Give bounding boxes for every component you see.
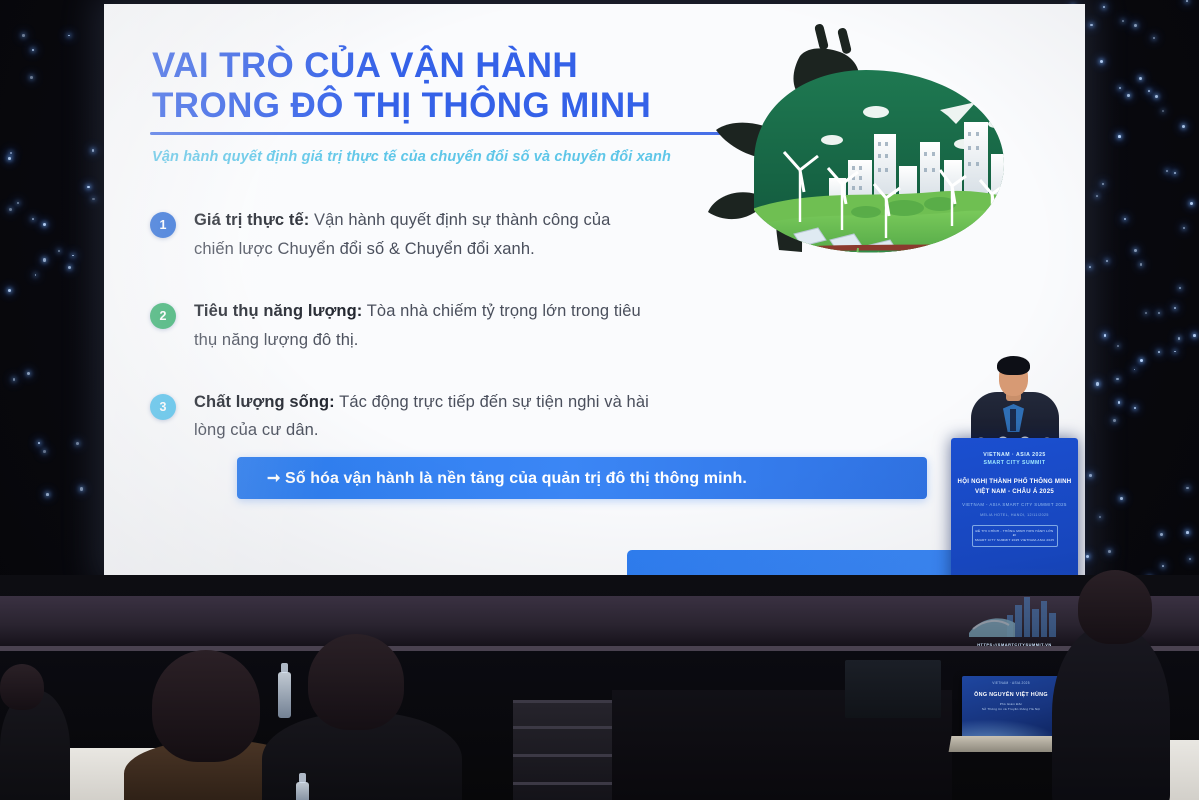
backdrop-star-light: [1160, 533, 1163, 536]
backdrop-star-light: [17, 202, 20, 205]
backdrop-star-light: [1166, 170, 1168, 172]
speaker-tie: [1010, 409, 1016, 431]
summit-logo-line-2: SMART CITY SUMMIT: [951, 460, 1078, 468]
placard-role-line-2: Sở Thông tin và Truyền thông Hà Nội: [962, 707, 1060, 712]
backdrop-star-light: [1140, 263, 1143, 266]
backdrop-star-light: [76, 442, 79, 445]
podium-venue: MELIA HOTEL, HANOI, 12/11/2025: [951, 513, 1078, 517]
backdrop-star-light: [58, 250, 60, 252]
backdrop-star-light: [43, 450, 46, 453]
backdrop-star-light: [68, 35, 70, 37]
speaker-figure: [963, 352, 1067, 452]
backdrop-star-light: [1127, 94, 1130, 97]
backdrop-star-light: [1117, 345, 1119, 347]
backdrop-star-light: [1124, 218, 1126, 220]
backdrop-star-light: [1120, 497, 1123, 500]
backdrop-star-light: [1134, 249, 1137, 252]
podium-url: HTTPS://SMARTCITYSUMMIT.VN: [951, 642, 1078, 647]
backdrop-star-light: [1174, 172, 1176, 174]
backdrop-star-light: [1179, 287, 1181, 289]
backdrop-star-light: [1174, 351, 1176, 353]
podium-heading-line-1: HỘI NGHỊ THÀNH PHỐ THÔNG MINH: [951, 477, 1078, 487]
backdrop-star-light: [8, 157, 11, 160]
bullet-lead: Tiêu thụ năng lượng:: [194, 302, 362, 320]
backdrop-star-light: [1100, 60, 1103, 63]
backdrop-star-light: [1183, 227, 1185, 229]
backdrop-star-light: [30, 76, 33, 79]
backdrop-star-light: [1182, 125, 1185, 128]
backdrop-star-light: [1118, 135, 1121, 138]
backdrop-star-light: [1134, 24, 1137, 27]
projection-screen: VAI TRÒ CỦA VẬN HÀNH TRONG ĐÔ THỊ THÔNG …: [104, 4, 1085, 575]
backdrop-star-light: [1103, 6, 1106, 9]
backdrop-star-light: [92, 149, 94, 151]
lectern-branding-panel: VIETNAM · ASIA 2025 SMART CITY SUMMIT HỘ…: [951, 438, 1078, 653]
backdrop-star-light: [72, 255, 74, 257]
backdrop-star-light: [1153, 37, 1155, 39]
backdrop-star-light: [1122, 20, 1124, 22]
backdrop-star-light: [1145, 312, 1147, 314]
placard-name: ÔNG NGUYỄN VIỆT HÙNG: [962, 692, 1060, 698]
audience-head: [152, 650, 260, 762]
backdrop-star-light: [1186, 487, 1189, 490]
bullet-text: Giá trị thực tế: Vận hành quyết định sự …: [194, 206, 650, 264]
backdrop-star-light: [1186, 0, 1188, 2]
backdrop-star-light: [92, 198, 95, 201]
podium-theme-box: ĐỀ THI CHÍNH - THÔNG MINH HƠN HÀNH LỚN Đ…: [972, 525, 1058, 547]
summit-logo-line-1: VIETNAM · ASIA 2025: [951, 452, 1078, 460]
banner-text: ➞ Số hóa vận hành là nền tảng của quản t…: [267, 468, 747, 488]
water-bottle: [278, 672, 291, 718]
backdrop-star-light: [43, 258, 46, 261]
audience-member: [1052, 624, 1170, 800]
backdrop-star-light: [1099, 516, 1101, 518]
backdrop-star-light: [1116, 378, 1119, 381]
backdrop-star-light: [1189, 558, 1191, 560]
backdrop-star-light: [1186, 531, 1189, 534]
audience-head: [1078, 570, 1152, 644]
audience-head: [0, 664, 44, 710]
backdrop-star-light: [1096, 195, 1098, 197]
placard-role: Phó Giám Đốc Sở Thông tin và Truyền thôn…: [962, 702, 1060, 711]
backdrop-star-light: [9, 208, 12, 211]
slide-content: VAI TRÒ CỦA VẬN HÀNH TRONG ĐÔ THỊ THÔNG …: [104, 4, 1085, 575]
backdrop-star-light: [1155, 95, 1158, 98]
backdrop-star-light: [1089, 474, 1092, 477]
backdrop-star-light: [38, 442, 40, 444]
key-message-banner: ➞ Số hóa vận hành là nền tảng của quản t…: [237, 457, 927, 499]
backdrop-star-light: [1193, 334, 1196, 337]
backdrop-star-light: [1106, 260, 1108, 262]
backdrop-star-light: [1148, 90, 1150, 92]
backdrop-star-light: [1139, 77, 1142, 80]
laptop: [845, 660, 941, 718]
eco-lightbulb-illustration: [604, 12, 1034, 282]
backdrop-star-light: [1119, 87, 1121, 89]
backdrop-star-light: [1174, 307, 1176, 309]
backdrop-star-light: [46, 493, 49, 496]
speaker-hair: [997, 356, 1030, 375]
conference-hall-scene: VAI TRÒ CỦA VẬN HÀNH TRONG ĐÔ THỊ THÔNG …: [0, 0, 1199, 800]
name-placard: VIETNAM · ASIA 2025 ÔNG NGUYỄN VIỆT HÙNG…: [962, 676, 1060, 738]
backdrop-star-light: [1140, 359, 1143, 362]
backdrop-star-light: [68, 266, 71, 269]
bullet-number-badge: 1: [150, 212, 176, 238]
backdrop-star-light: [27, 372, 30, 375]
backdrop-star-light: [8, 289, 11, 292]
backdrop-star-light: [1096, 382, 1099, 385]
bullet-text: Tiêu thụ năng lượng: Tòa nhà chiếm tỷ tr…: [194, 297, 650, 355]
bullet-number-badge: 2: [150, 303, 176, 329]
backdrop-star-light: [1134, 407, 1136, 409]
bullet-item: 3 Chất lượng sống: Tác động trực tiếp đế…: [150, 388, 650, 446]
bullet-list: 1 Giá trị thực tế: Vận hành quyết định s…: [150, 206, 650, 478]
backdrop-star-light: [1162, 110, 1164, 112]
bullet-text: Chất lượng sống: Tác động trực tiếp đến …: [194, 388, 650, 446]
backdrop-star-light: [1108, 550, 1111, 553]
backdrop-star-light: [10, 152, 12, 154]
backdrop-star-light: [32, 218, 34, 220]
bullet-number-badge: 3: [150, 394, 176, 420]
backdrop-star-light: [35, 274, 37, 276]
backdrop-star-light: [1162, 565, 1164, 567]
backdrop-star-light: [1158, 351, 1160, 353]
summit-logo: VIETNAM · ASIA 2025 SMART CITY SUMMIT: [951, 452, 1078, 468]
backdrop-star-light: [1158, 312, 1160, 314]
podium-subheading: VIETNAM - ASIA SMART CITY SUMMIT 2025: [951, 502, 1078, 507]
backdrop-star-light: [1134, 369, 1136, 371]
bullet-item: 2 Tiêu thụ năng lượng: Tòa nhà chiếm tỷ …: [150, 297, 650, 355]
backdrop-star-light: [13, 378, 15, 380]
backdrop-star-light: [87, 186, 90, 189]
backdrop-star-light: [1113, 419, 1116, 422]
podium-theme-line-1: ĐỀ THI CHÍNH - THÔNG MINH HƠN HÀNH LỚN Đ…: [975, 529, 1055, 539]
backdrop-star-light: [1089, 266, 1091, 268]
backdrop-star-light: [1104, 334, 1106, 336]
backdrop-star-light: [1086, 555, 1089, 558]
water-bottle: [296, 782, 309, 800]
backdrop-star-light: [80, 487, 83, 490]
audience-head: [308, 634, 404, 730]
podium-heading: HỘI NGHỊ THÀNH PHỐ THÔNG MINH VIỆT NAM -…: [951, 477, 1078, 497]
backdrop-star-light: [1190, 202, 1193, 205]
bullet-item: 1 Giá trị thực tế: Vận hành quyết định s…: [150, 206, 650, 264]
backdrop-star-light: [1118, 401, 1121, 404]
backdrop-star-light: [1102, 183, 1103, 184]
bullet-lead: Giá trị thực tế:: [194, 211, 309, 229]
podium-heading-line-2: VIỆT NAM - CHÂU Á 2025: [951, 487, 1078, 497]
backdrop-star-light: [1178, 337, 1180, 339]
placard-org: VIETNAM · ASIA 2025: [962, 681, 1060, 685]
backdrop-star-light: [1090, 24, 1092, 26]
podium-theme-line-2: SMART CITY SUMMIT 2025 VIETNAM-ASIA 2025: [975, 538, 1055, 543]
bullet-lead: Chất lượng sống:: [194, 393, 335, 411]
podium-city-graphic: [967, 589, 1063, 637]
backdrop-star-light: [32, 49, 34, 51]
backdrop-star-light: [43, 223, 46, 226]
backdrop-star-light: [22, 34, 25, 37]
